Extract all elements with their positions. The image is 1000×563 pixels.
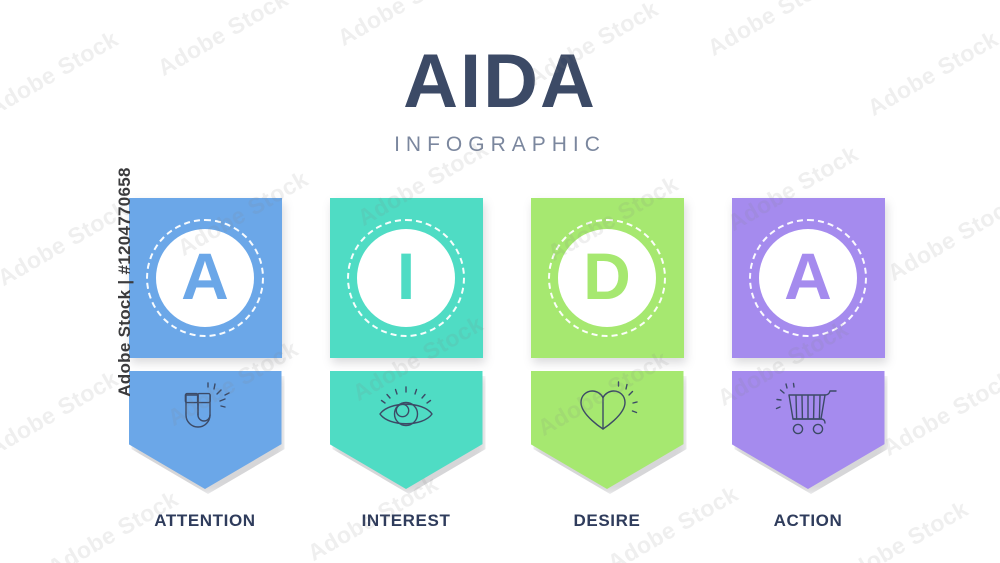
step-card-desire[interactable]: D — [531, 198, 684, 358]
banner-shape[interactable] — [531, 371, 684, 489]
step-card-attention[interactable]: A — [129, 198, 282, 358]
page-subtitle: INFOGRAPHIC — [0, 134, 1000, 155]
step-banner-interest[interactable] — [330, 371, 483, 489]
magnet-icon — [168, 381, 242, 441]
infographic-canvas: Adobe Stock Adobe Stock Adobe Stock Adob… — [0, 0, 1000, 563]
step-letter: I — [397, 243, 415, 309]
steps-container: A — [0, 198, 1000, 538]
shopping-cart-icon — [771, 381, 845, 441]
step-banner-action[interactable] — [732, 371, 885, 489]
eye-icon — [369, 381, 443, 441]
banner-shape[interactable] — [129, 371, 282, 489]
banner-shape[interactable] — [732, 371, 885, 489]
letter-disc: A — [156, 229, 254, 327]
step-banner-attention[interactable] — [129, 371, 282, 489]
step-banner-desire[interactable] — [531, 371, 684, 489]
letter-disc: D — [558, 229, 656, 327]
step-label-attention: ATTENTION — [120, 511, 290, 531]
step-letter: A — [784, 243, 832, 309]
letter-disc: I — [357, 229, 455, 327]
step-label-interest: INTEREST — [321, 511, 491, 531]
step-letter: D — [583, 243, 631, 309]
stock-id-watermark: Adobe Stock | #1204770658 — [115, 167, 135, 397]
step-label-action: ACTION — [723, 511, 893, 531]
step-column-action[interactable]: A — [723, 198, 893, 531]
letter-disc: A — [759, 229, 857, 327]
step-card-interest[interactable]: I — [330, 198, 483, 358]
step-column-attention[interactable]: A — [120, 198, 290, 531]
step-column-desire[interactable]: D — [522, 198, 692, 531]
page-title: AIDA — [0, 44, 1000, 120]
header: AIDA INFOGRAPHIC — [0, 44, 1000, 155]
step-label-desire: DESIRE — [522, 511, 692, 531]
step-card-action[interactable]: A — [732, 198, 885, 358]
step-letter: A — [181, 243, 229, 309]
heart-icon — [570, 381, 644, 441]
step-column-interest[interactable]: I — [321, 198, 491, 531]
banner-shape[interactable] — [330, 371, 483, 489]
